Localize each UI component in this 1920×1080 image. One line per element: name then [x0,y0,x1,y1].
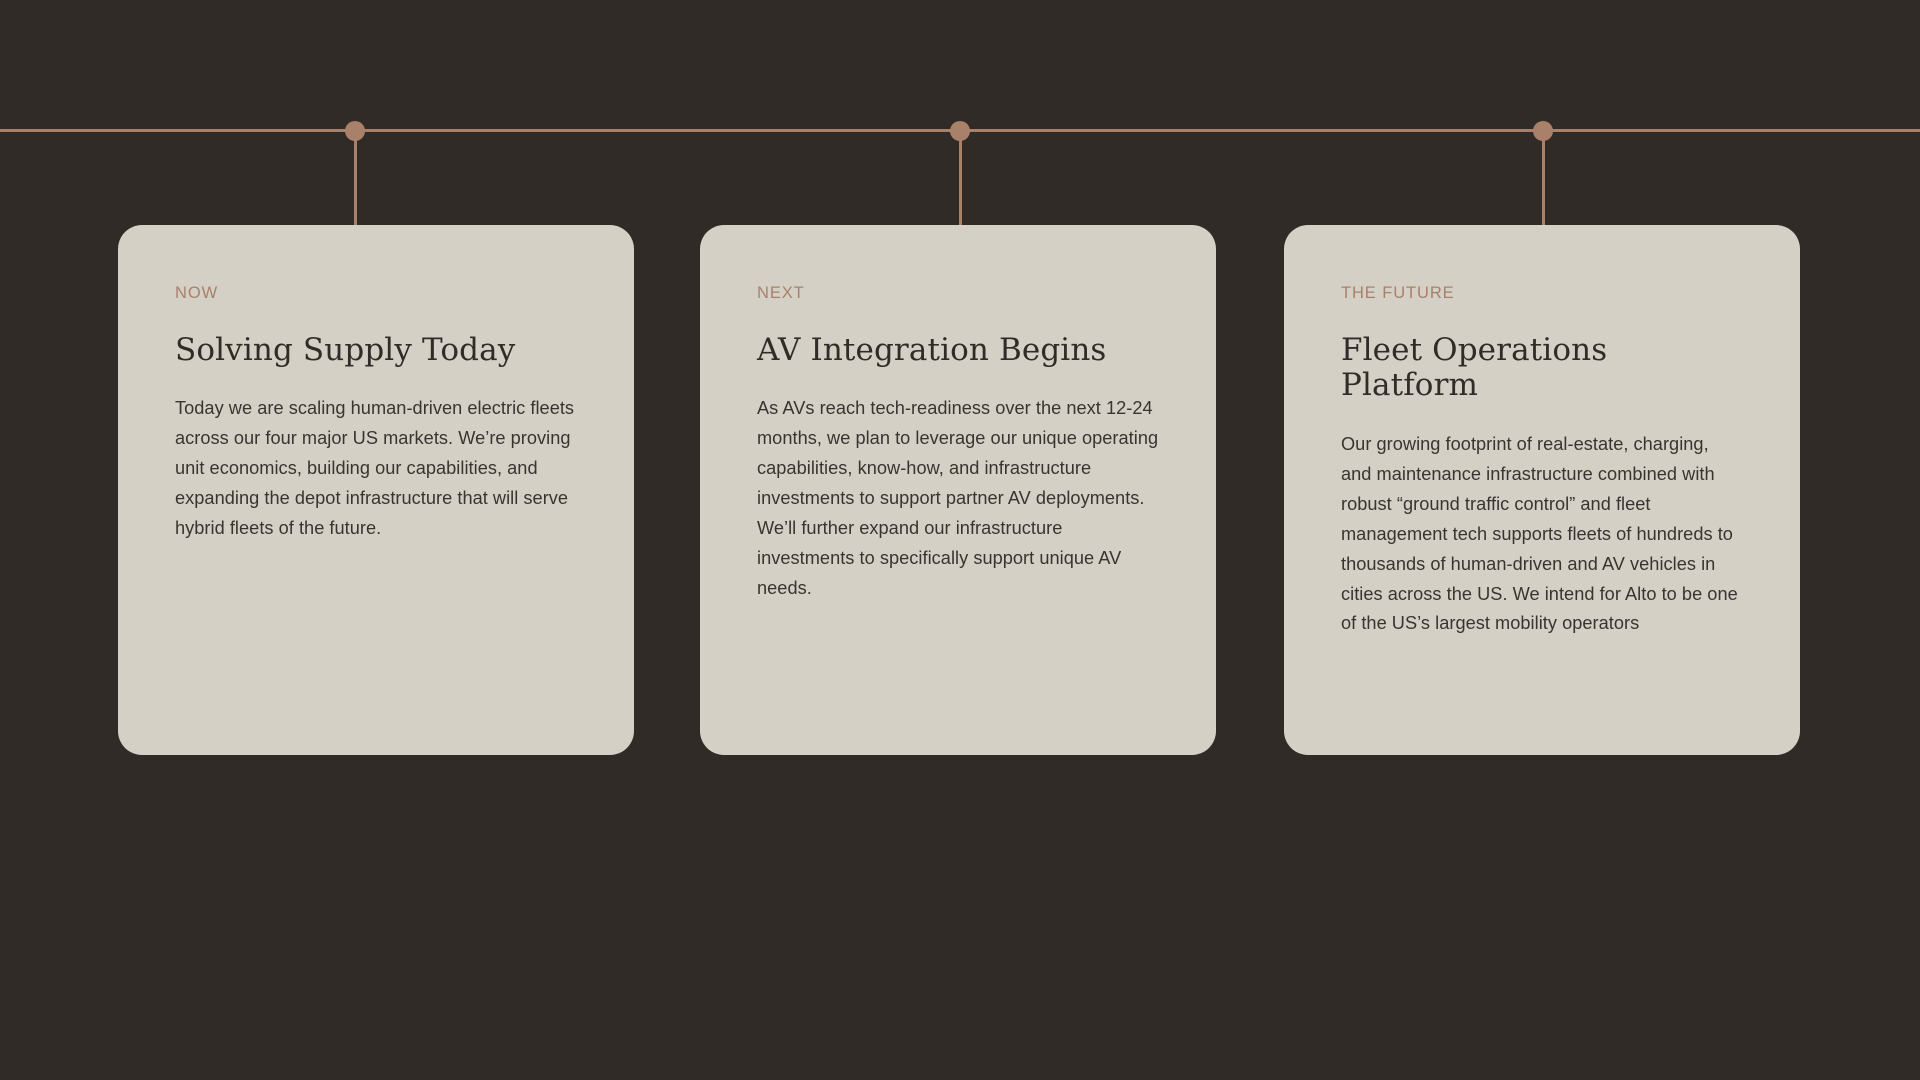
timeline-node-the-future [1533,121,1553,141]
timeline-dot-icon [1533,121,1553,141]
card-title: Solving Supply Today [175,333,577,369]
card-body-text: Our growing footprint of real-estate, ch… [1341,430,1743,639]
card-body-text: As AVs reach tech-readiness over the nex… [757,394,1159,603]
roadmap-card-next: NEXT AV Integration Begins As AVs reach … [700,225,1216,755]
card-title: AV Integration Begins [757,333,1159,369]
timeline-dot-icon [950,121,970,141]
card-body-text: Today we are scaling human-driven electr… [175,394,577,543]
card-title: Fleet Operations Platform [1341,333,1743,405]
roadmap-card-now: NOW Solving Supply Today Today we are sc… [118,225,634,755]
card-eyebrow-label: NEXT [757,285,1159,302]
roadmap-timeline-section: NOW Solving Supply Today Today we are sc… [0,0,1920,1080]
timeline-dot-icon [345,121,365,141]
timeline-connector-line [959,139,962,228]
timeline-connector-line [354,139,357,228]
card-eyebrow-label: NOW [175,285,577,302]
timeline-node-now [345,121,365,141]
timeline-node-next [950,121,970,141]
timeline-connector-line [1542,139,1545,228]
card-eyebrow-label: THE FUTURE [1341,285,1743,302]
roadmap-card-the-future: THE FUTURE Fleet Operations Platform Our… [1284,225,1800,755]
